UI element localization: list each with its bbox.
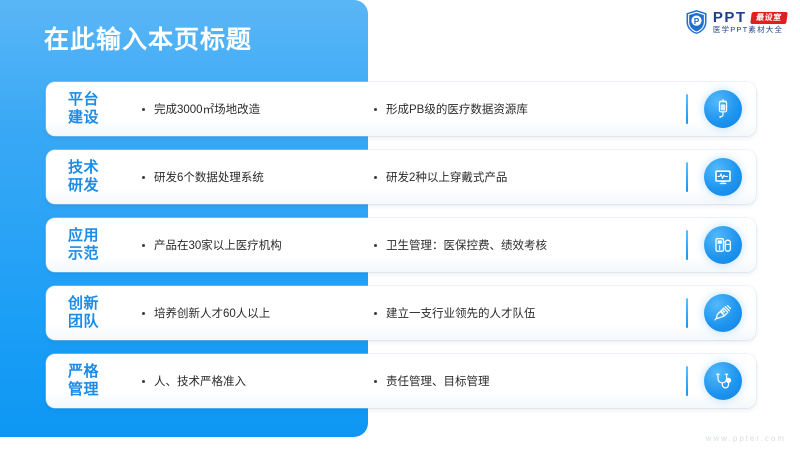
row-label-line2: 管理: [68, 381, 120, 399]
row-left-bullet-text: 人、技术严格准入: [154, 373, 246, 389]
row-right-bullet: 形成PB级的医疗数据资源库: [352, 101, 686, 117]
row-right-bullet: 研发2种以上穿戴式产品: [352, 169, 686, 185]
slide-canvas: 在此输入本页标题 P PPT 最设室 医学PPT素材大全: [0, 0, 800, 450]
bullet-dot-icon: [142, 312, 145, 315]
row-left-bullet: 产品在30家以上医疗机构: [120, 237, 352, 253]
row-category-label: 应用 示范: [46, 227, 120, 262]
row-category-label: 平台 建设: [46, 91, 120, 126]
bullet-dot-icon: [142, 176, 145, 179]
row-divider: [686, 298, 688, 328]
logo-brand-text: PPT: [713, 10, 747, 25]
row-label-line1: 平台: [68, 91, 120, 109]
row-divider: [686, 162, 688, 192]
row-right-bullet: 责任管理、目标管理: [352, 373, 686, 389]
bullet-dot-icon: [374, 176, 377, 179]
row-right-bullet-text: 卫生管理：医保控费、绩效考核: [386, 237, 547, 253]
row-divider: [686, 94, 688, 124]
row-right-bullet-text: 建立一支行业领先的人才队伍: [386, 305, 536, 321]
bullet-dot-icon: [374, 312, 377, 315]
svg-text:P: P: [694, 16, 700, 26]
row-left-bullet: 完成3000㎡场地改造: [120, 101, 352, 117]
blood-pressure-monitor-icon: [704, 226, 742, 264]
row-right-bullet-text: 研发2种以上穿戴式产品: [386, 169, 507, 185]
bullet-dot-icon: [374, 380, 377, 383]
bullet-dot-icon: [142, 108, 145, 111]
row-left-bullet-text: 研发6个数据处理系统: [154, 169, 264, 185]
ecg-monitor-icon: [704, 158, 742, 196]
row-label-line2: 团队: [68, 313, 120, 331]
row-right-bullet-text: 责任管理、目标管理: [386, 373, 490, 389]
row-label-line1: 严格: [68, 363, 120, 381]
syringe-icon: [704, 294, 742, 332]
brand-logo: P PPT 最设室 医学PPT素材大全: [685, 9, 786, 35]
row-left-bullet: 培养创新人才60人以上: [120, 305, 352, 321]
table-row[interactable]: 平台 建设 完成3000㎡场地改造 形成PB级的医疗数据资源库: [46, 82, 756, 136]
row-label-line1: 创新: [68, 295, 120, 313]
row-category-label: 创新 团队: [46, 295, 120, 330]
logo-tagline: 医学PPT素材大全: [713, 26, 786, 34]
row-left-bullet-text: 培养创新人才60人以上: [154, 305, 270, 321]
bullet-dot-icon: [374, 108, 377, 111]
row-label-line1: 应用: [68, 227, 120, 245]
logo-badge: 最设室: [750, 12, 787, 24]
content-rows: 平台 建设 完成3000㎡场地改造 形成PB级的医疗数据资源库: [46, 82, 756, 408]
table-row[interactable]: 创新 团队 培养创新人才60人以上 建立一支行业领先的人才队伍: [46, 286, 756, 340]
table-row[interactable]: 严格 管理 人、技术严格准入 责任管理、目标管理: [46, 354, 756, 408]
footer-watermark-url: www.ppter.com: [706, 434, 786, 443]
row-label-line2: 研发: [68, 177, 120, 195]
slide-header: 在此输入本页标题 P PPT 最设室 医学PPT素材大全: [0, 0, 800, 72]
row-divider: [686, 230, 688, 260]
page-title: 在此输入本页标题: [44, 20, 252, 56]
shield-icon: P: [685, 9, 708, 35]
row-category-label: 技术 研发: [46, 159, 120, 194]
row-category-label: 严格 管理: [46, 363, 120, 398]
logo-text-block: PPT 最设室 医学PPT素材大全: [713, 10, 786, 34]
table-row[interactable]: 技术 研发 研发6个数据处理系统 研发2种以上穿戴式产品: [46, 150, 756, 204]
row-divider: [686, 366, 688, 396]
iv-drip-icon: [704, 90, 742, 128]
row-left-bullet-text: 完成3000㎡场地改造: [154, 101, 260, 117]
row-label-line2: 建设: [68, 109, 120, 127]
row-right-bullet: 建立一支行业领先的人才队伍: [352, 305, 686, 321]
row-label-line1: 技术: [68, 159, 120, 177]
bullet-dot-icon: [142, 380, 145, 383]
row-left-bullet: 人、技术严格准入: [120, 373, 352, 389]
logo-primary-row: PPT 最设室: [713, 10, 786, 25]
table-row[interactable]: 应用 示范 产品在30家以上医疗机构 卫生管理：医保控费、绩效考核: [46, 218, 756, 272]
row-left-bullet: 研发6个数据处理系统: [120, 169, 352, 185]
bullet-dot-icon: [142, 244, 145, 247]
stethoscope-icon: [704, 362, 742, 400]
row-label-line2: 示范: [68, 245, 120, 263]
row-right-bullet-text: 形成PB级的医疗数据资源库: [386, 101, 528, 117]
bullet-dot-icon: [374, 244, 377, 247]
row-right-bullet: 卫生管理：医保控费、绩效考核: [352, 237, 686, 253]
row-left-bullet-text: 产品在30家以上医疗机构: [154, 237, 282, 253]
